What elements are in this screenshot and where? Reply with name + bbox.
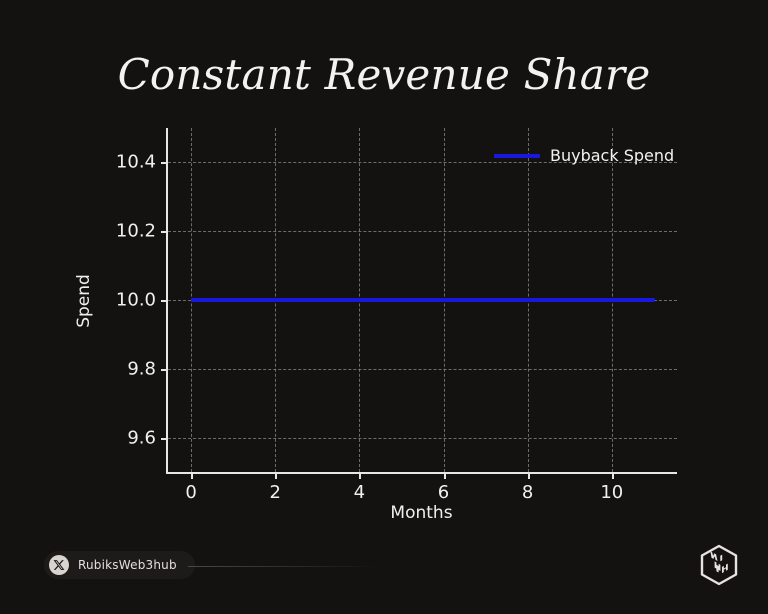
- series-segment: [570, 298, 613, 302]
- series-segment: [486, 298, 529, 302]
- legend-color-swatch: [494, 154, 540, 158]
- legend-label: Buyback Spend: [550, 146, 674, 165]
- x-tick-label: 10: [600, 482, 623, 503]
- watermark-badge[interactable]: RubiksWeb3hub: [44, 551, 195, 579]
- x-tick-mark: [191, 472, 193, 479]
- y-tick-mark: [161, 438, 168, 440]
- series-segment: [612, 298, 655, 302]
- y-tick-label: 10.0: [116, 290, 156, 311]
- plot-area: 02468109.69.810.010.210.4: [166, 128, 677, 474]
- series-segment: [233, 298, 276, 302]
- x-tick-mark: [444, 472, 446, 479]
- y-tick-label: 10.2: [116, 221, 156, 242]
- series-segment: [359, 298, 402, 302]
- chart-canvas: Constant Revenue Share Spend Months 0246…: [0, 0, 768, 614]
- y-tick-label: 9.6: [127, 427, 156, 448]
- x-tick-mark: [528, 472, 530, 479]
- y-tick-label: 10.4: [116, 152, 156, 173]
- y-tick-mark: [161, 300, 168, 302]
- x-logo-icon: [49, 555, 69, 575]
- gridline-horizontal: [168, 369, 677, 370]
- y-tick-label: 9.8: [127, 358, 156, 379]
- y-tick-mark: [161, 162, 168, 164]
- w3h-cube-logo-icon: [698, 543, 740, 587]
- series-segment: [317, 298, 360, 302]
- x-tick-label: 6: [438, 482, 449, 503]
- y-tick-mark: [161, 369, 168, 371]
- watermark-divider: [188, 566, 378, 567]
- series-segment: [444, 298, 487, 302]
- x-tick-label: 4: [354, 482, 365, 503]
- x-tick-mark: [359, 472, 361, 479]
- series-segment: [528, 298, 571, 302]
- y-axis-title: Spend: [74, 274, 94, 328]
- x-tick-label: 8: [522, 482, 533, 503]
- watermark-handle-label: RubiksWeb3hub: [78, 558, 177, 572]
- gridline-horizontal: [168, 438, 677, 439]
- x-tick-label: 2: [270, 482, 281, 503]
- series-segment: [191, 298, 234, 302]
- legend-item[interactable]: Buyback Spend: [494, 146, 674, 165]
- x-tick-mark: [612, 472, 614, 479]
- page-title: Constant Revenue Share: [0, 50, 768, 99]
- series-segment: [275, 298, 318, 302]
- y-tick-mark: [161, 231, 168, 233]
- x-axis-title: Months: [166, 503, 677, 523]
- x-tick-label: 0: [185, 482, 196, 503]
- chart-legend[interactable]: Buyback Spend: [494, 146, 674, 165]
- gridline-horizontal: [168, 231, 677, 232]
- x-tick-mark: [275, 472, 277, 479]
- series-segment: [401, 298, 444, 302]
